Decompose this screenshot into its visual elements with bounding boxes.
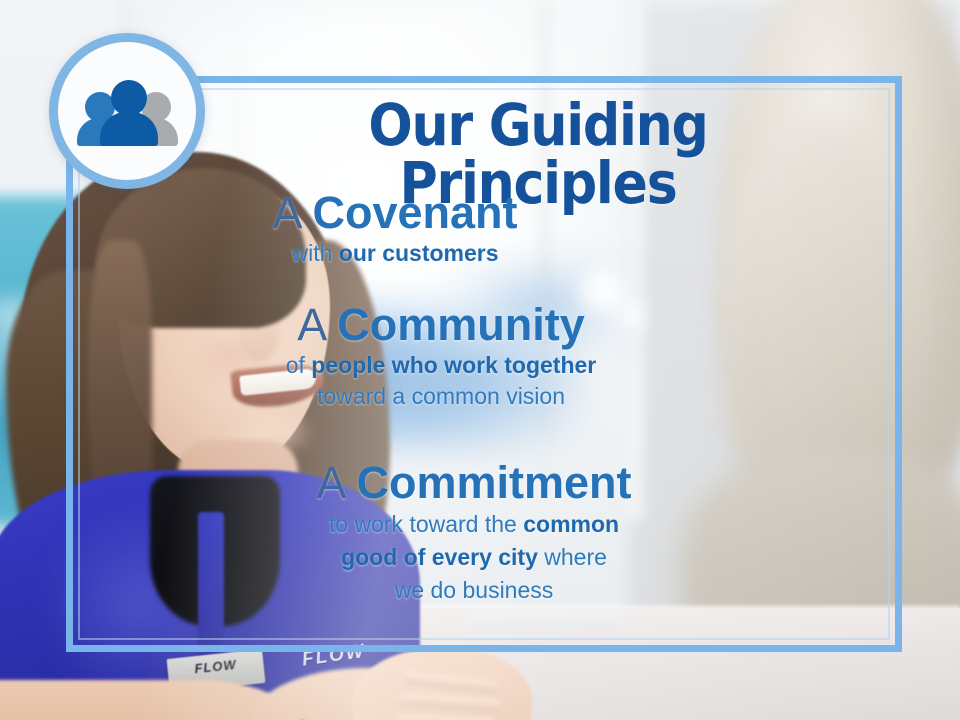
principle-article: A (316, 457, 356, 508)
principle-text-bold: our customers (339, 240, 499, 266)
principle-description-line: good of every city where (0, 541, 948, 574)
poster-text-content: Our Guiding Principles A Covenant with o… (0, 0, 960, 720)
principle-description-line: of people who work together (0, 350, 882, 381)
principle-description: to work toward the common good of every … (0, 508, 948, 607)
principle-text-plain: toward a common vision (317, 383, 565, 409)
principle-text-plain: where (538, 544, 607, 570)
principle-text-plain: with (291, 240, 338, 266)
principle-heading: A Commitment (0, 458, 948, 508)
principle-description-line: toward a common vision (0, 381, 882, 412)
principle-text-plain: we do business (395, 577, 554, 603)
principle-covenant: A Covenant with our customers (0, 188, 960, 269)
principle-text-plain: to work toward the (329, 511, 523, 537)
principle-article: A (272, 187, 312, 238)
principle-text-plain: of (286, 352, 312, 378)
principle-heading: A Covenant (0, 188, 790, 238)
principle-description-line: we do business (0, 574, 948, 607)
principle-keyword: Community (337, 299, 585, 350)
principle-keyword: Covenant (313, 187, 518, 238)
principle-description-line: to work toward the common (0, 508, 948, 541)
principle-keyword: Commitment (357, 457, 632, 508)
principle-text-bold: good of every city (341, 544, 538, 570)
poster: FLOW FLOW Our Guiding Principles (0, 0, 960, 720)
principle-description-line: with our customers (0, 238, 790, 269)
principle-description: with our customers (0, 238, 790, 269)
principle-community: A Community of people who work together … (0, 300, 960, 412)
principle-heading: A Community (0, 300, 882, 350)
principle-article: A (297, 299, 337, 350)
principle-text-bold: people who work together (311, 352, 596, 378)
principle-text-bold: common (523, 511, 619, 537)
principle-description: of people who work together toward a com… (0, 350, 882, 412)
principle-commitment: A Commitment to work toward the common g… (0, 458, 960, 607)
